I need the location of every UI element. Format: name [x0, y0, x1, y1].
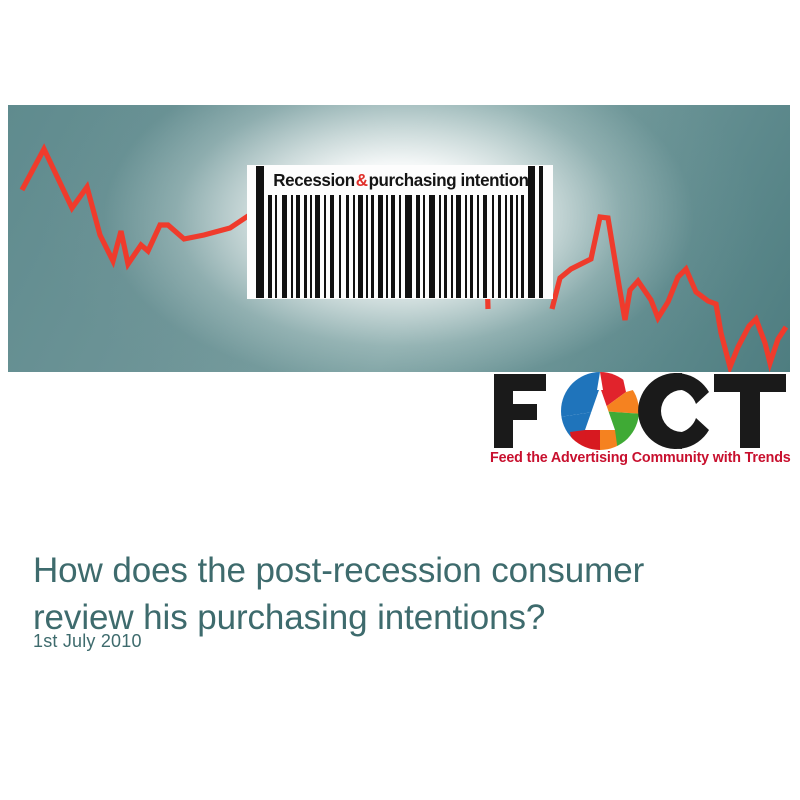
- page-title-line-1: How does the post-recession consumer: [33, 547, 753, 594]
- barcode-graphic: Recession & purchasing intention: [247, 165, 553, 299]
- logo-letter-a-mark: [552, 370, 647, 452]
- barcode-label-prefix: Recession: [273, 170, 354, 191]
- decline-line-right: [552, 217, 786, 367]
- fact-wordmark: [490, 370, 790, 452]
- fact-logo: Feed the Advertising Community with Tren…: [490, 370, 790, 478]
- fact-logo-tagline: Feed the Advertising Community with Tren…: [490, 450, 790, 466]
- barcode-label-ampersand: &: [355, 170, 369, 191]
- presentation-date: 1st July 2010: [33, 631, 142, 652]
- logo-letter-c: [638, 373, 709, 449]
- fact-logo-svg: [490, 370, 790, 452]
- logo-letter-f: [494, 374, 546, 448]
- barcode-label: Recession & purchasing intention: [271, 167, 531, 193]
- barcode-label-suffix: purchasing intention: [369, 170, 529, 191]
- logo-letter-t: [714, 374, 786, 448]
- page-title: How does the post-recession consumer rev…: [33, 547, 753, 641]
